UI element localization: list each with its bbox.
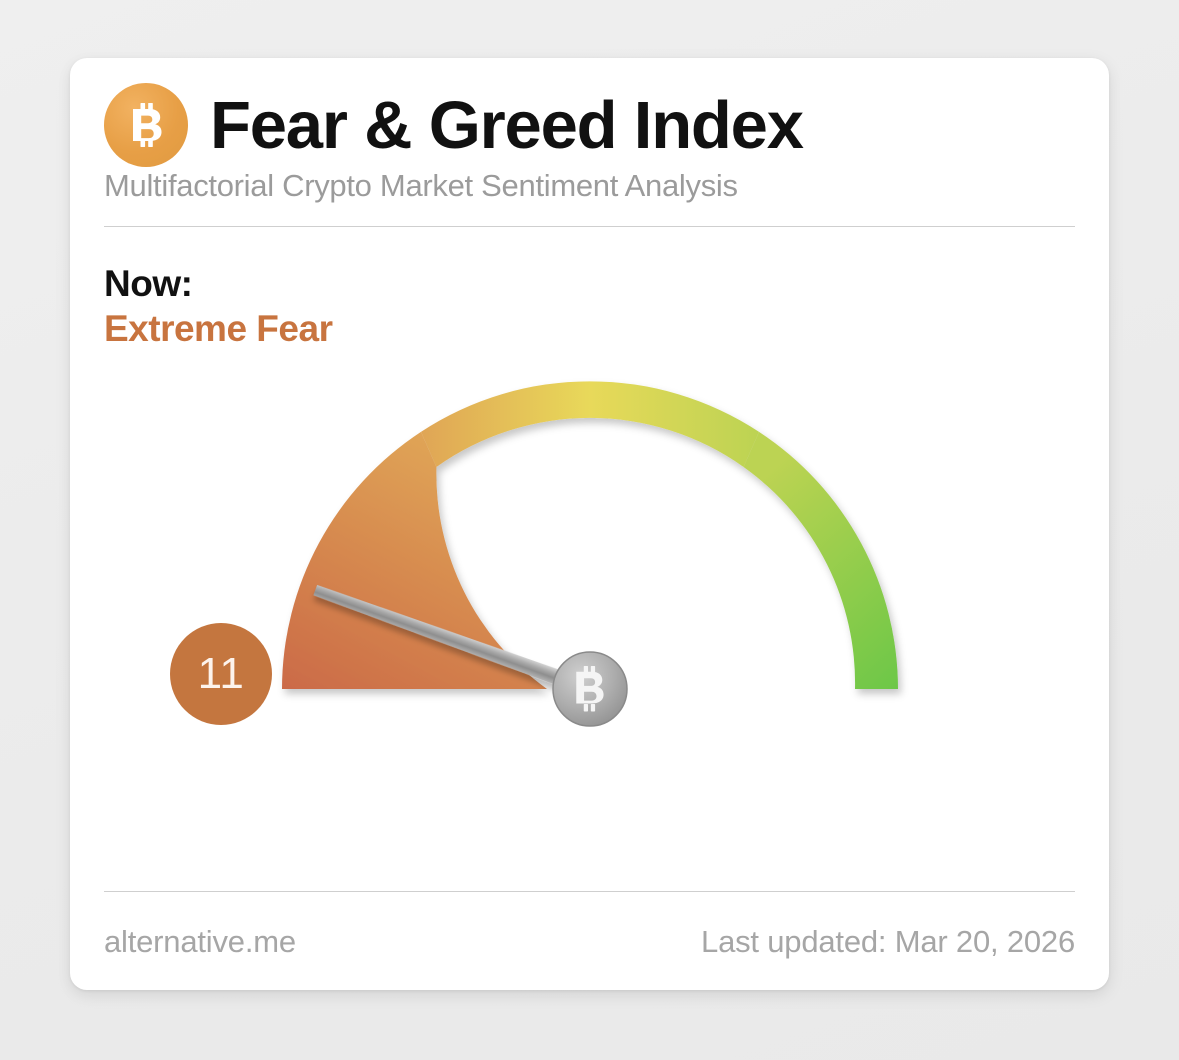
status-now-label: Now: bbox=[104, 261, 1075, 306]
gauge-arc bbox=[282, 382, 898, 690]
status-block: Now: Extreme Fear bbox=[104, 261, 1075, 351]
gauge-value-badge: 11 bbox=[170, 623, 272, 725]
footer-divider bbox=[104, 891, 1075, 892]
last-updated-text: Last updated: Mar 20, 2026 bbox=[701, 924, 1075, 960]
status-classification: Extreme Fear bbox=[104, 306, 1075, 351]
page-title: Fear & Greed Index bbox=[210, 92, 803, 159]
header-divider bbox=[104, 226, 1075, 227]
card-footer: alternative.me Last updated: Mar 20, 202… bbox=[104, 924, 1075, 960]
gauge-chart bbox=[260, 357, 920, 857]
fear-greed-card: Fear & Greed Index Multifactorial Crypto… bbox=[70, 58, 1109, 990]
bitcoin-icon bbox=[104, 83, 188, 167]
gauge-value: 11 bbox=[198, 649, 245, 699]
gauge-hub bbox=[553, 652, 627, 726]
source-link[interactable]: alternative.me bbox=[104, 924, 296, 960]
card-header: Fear & Greed Index bbox=[104, 58, 1075, 156]
gauge-container: 11 bbox=[104, 357, 1075, 857]
page-root: Fear & Greed Index Multifactorial Crypto… bbox=[0, 0, 1179, 1060]
page-subtitle: Multifactorial Crypto Market Sentiment A… bbox=[104, 168, 1075, 204]
